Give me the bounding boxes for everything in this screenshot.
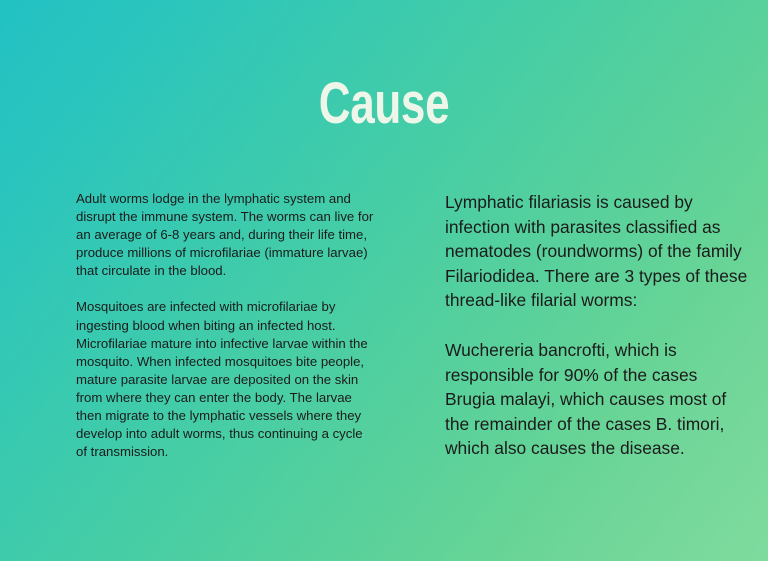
left-text-column: Adult worms lodge in the lymphatic syste… bbox=[76, 190, 376, 461]
right-paragraph-1: Lymphatic filariasis is caused by infect… bbox=[445, 190, 750, 313]
presentation-slide: Cause Adult worms lodge in the lymphatic… bbox=[0, 0, 768, 561]
slide-body-columns: Adult worms lodge in the lymphatic syste… bbox=[0, 190, 768, 530]
left-paragraph-2: Mosquitoes are infected with microfilari… bbox=[76, 298, 376, 461]
left-paragraph-1: Adult worms lodge in the lymphatic syste… bbox=[76, 190, 376, 280]
right-paragraph-2: Wuchereria bancrofti, which is responsib… bbox=[445, 338, 750, 461]
page-title: Cause bbox=[92, 73, 676, 135]
right-text-column: Lymphatic filariasis is caused by infect… bbox=[445, 190, 750, 461]
